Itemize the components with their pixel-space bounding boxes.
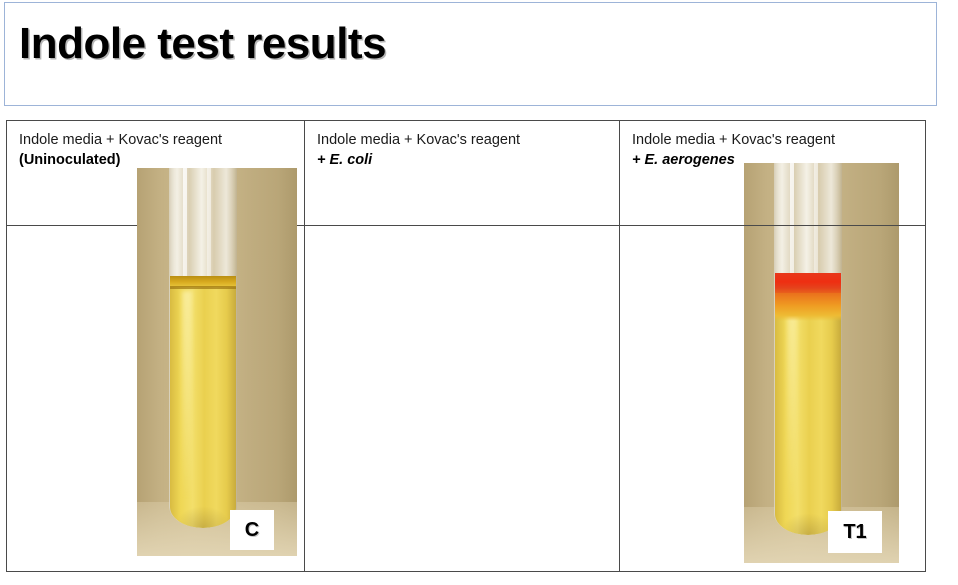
tube-bottom-shadow bbox=[174, 506, 232, 528]
liquid-body bbox=[170, 276, 236, 528]
table-column-e-coli: Indole media + Kovac's reagent + E. coli… bbox=[304, 121, 619, 571]
table-header-cell-e-coli: Indole media + Kovac's reagent + E. coli bbox=[305, 121, 619, 226]
header-line-condition: + E. aerogenes bbox=[632, 150, 925, 171]
photo-tube-control: C bbox=[137, 168, 297, 556]
results-table: Indole media + Kovac's reagent (Uninocul… bbox=[6, 120, 926, 572]
header-line-media: Indole media + Kovac's reagent bbox=[317, 130, 619, 150]
meniscus-line bbox=[170, 286, 236, 289]
test-tube-control bbox=[169, 168, 237, 528]
liquid-sheen bbox=[182, 291, 193, 498]
header-line-media: Indole media + Kovac's reagent bbox=[19, 130, 304, 150]
table-header-cell-e-aerogenes: Indole media + Kovac's reagent + E. aero… bbox=[620, 121, 925, 226]
title-box: Indole test results bbox=[4, 2, 937, 106]
header-line-condition: + E. coli bbox=[317, 150, 619, 171]
page-title: Indole test results bbox=[19, 19, 386, 69]
table-column-control: Indole media + Kovac's reagent (Uninocul… bbox=[7, 121, 304, 571]
header-line-media: Indole media + Kovac's reagent bbox=[632, 130, 925, 150]
table-column-e-aerogenes: Indole media + Kovac's reagent + E. aero… bbox=[619, 121, 925, 571]
photo-label-control: C bbox=[230, 510, 274, 550]
media-liquid-control bbox=[170, 276, 236, 528]
